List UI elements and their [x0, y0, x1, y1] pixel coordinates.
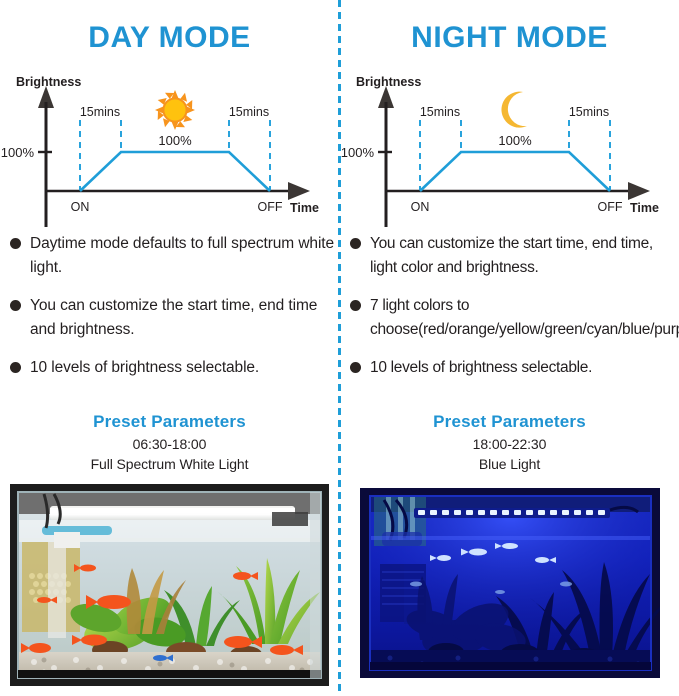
svg-text:15mins: 15mins: [80, 105, 120, 119]
list-item: 10 levels of brightness selectable.: [0, 356, 339, 380]
day-preset-parameters: Preset Parameters 06:30-18:00 Full Spect…: [0, 412, 339, 472]
svg-text:Brightness: Brightness: [356, 75, 421, 89]
list-item: 7 light colors to choose(red/orange/yell…: [340, 294, 679, 342]
svg-text:ON: ON: [71, 200, 90, 214]
svg-text:OFF: OFF: [598, 200, 623, 214]
list-item: You can customize the start time, end ti…: [0, 294, 339, 342]
bullet-dot-icon: [10, 362, 21, 373]
bullet-dot-icon: [10, 300, 21, 311]
preset-time-range: 06:30-18:00: [0, 436, 339, 452]
bullet-dot-icon: [350, 300, 361, 311]
svg-text:Brightness: Brightness: [16, 75, 81, 89]
list-item: 10 levels of brightness selectable.: [340, 356, 679, 380]
svg-text:100%: 100%: [341, 145, 375, 160]
bullet-dot-icon: [10, 238, 21, 249]
svg-text:15mins: 15mins: [569, 105, 609, 119]
list-item-label: You can customize the start time, end ti…: [30, 294, 339, 342]
list-item-label: 10 levels of brightness selectable.: [370, 356, 592, 380]
svg-text:Time: Time: [630, 201, 659, 215]
preset-title: Preset Parameters: [0, 412, 339, 432]
list-item-label: Daytime mode defaults to full spectrum w…: [30, 232, 339, 280]
preset-description: Blue Light: [340, 456, 679, 472]
list-item: You can customize the start time, end ti…: [340, 232, 679, 280]
day-mode-feature-list: Daytime mode defaults to full spectrum w…: [0, 232, 339, 394]
bullet-dot-icon: [350, 238, 361, 249]
aquarium-day-photo: [10, 484, 329, 686]
svg-text:15mins: 15mins: [229, 105, 269, 119]
day-mode-brightness-chart: 100% Brightness Time 15mins 15mins 100% …: [0, 72, 339, 227]
svg-text:OFF: OFF: [258, 200, 283, 214]
list-item: Daytime mode defaults to full spectrum w…: [0, 232, 339, 280]
sun-icon: [155, 90, 195, 130]
svg-text:100%: 100%: [1, 145, 35, 160]
aquarium-night-photo: [360, 488, 660, 678]
preset-description: Full Spectrum White Light: [0, 456, 339, 472]
moon-icon: [501, 92, 527, 128]
preset-time-range: 18:00-22:30: [340, 436, 679, 452]
day-mode-column: DAY MODE: [0, 0, 339, 696]
day-mode-title: DAY MODE: [0, 21, 339, 55]
list-item-label: 10 levels of brightness selectable.: [30, 356, 259, 380]
night-mode-brightness-chart: 100% Brightness Time 15mins 15mins 100% …: [340, 72, 679, 227]
svg-text:ON: ON: [411, 200, 430, 214]
svg-text:100%: 100%: [498, 133, 532, 148]
night-preset-parameters: Preset Parameters 18:00-22:30 Blue Light: [340, 412, 679, 472]
product-feature-panel: DAY MODE: [0, 0, 679, 696]
bullet-dot-icon: [350, 362, 361, 373]
night-mode-column: NIGHT MODE 100% Brightness Time: [340, 0, 679, 696]
night-mode-title: NIGHT MODE: [340, 21, 679, 55]
svg-text:15mins: 15mins: [420, 105, 460, 119]
night-mode-feature-list: You can customize the start time, end ti…: [340, 232, 679, 394]
list-item-label: You can customize the start time, end ti…: [370, 232, 679, 280]
list-item-label: 7 light colors to choose(red/orange/yell…: [370, 294, 679, 342]
svg-text:Time: Time: [290, 201, 319, 215]
preset-title: Preset Parameters: [340, 412, 679, 432]
svg-text:100%: 100%: [158, 133, 192, 148]
